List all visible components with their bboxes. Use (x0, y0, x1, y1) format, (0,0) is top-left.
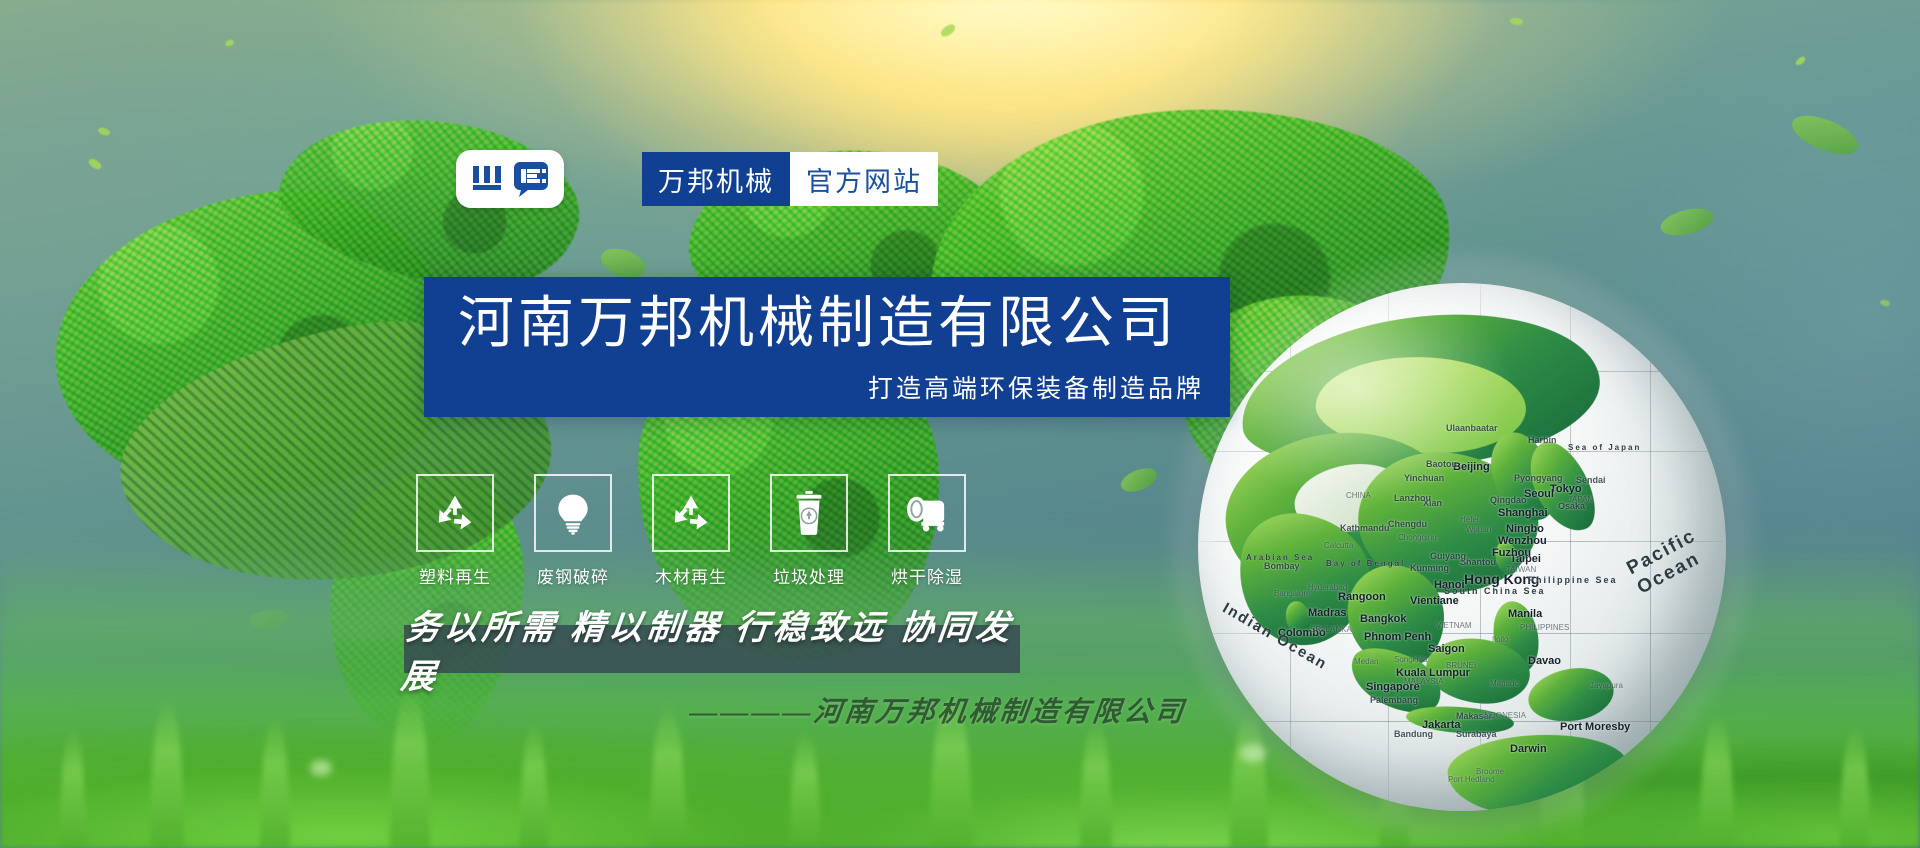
globe-city-label: TAIWAN (1506, 565, 1536, 574)
grass-blade (520, 722, 548, 848)
globe-city-label: Vientiane (1410, 595, 1459, 607)
globe-city-label: Rangoon (1338, 591, 1386, 603)
page-subtitle: 打造高端环保装备制造品牌 (868, 369, 1204, 405)
island-blob (1118, 464, 1161, 497)
globe-city-label: Bangkok (1360, 613, 1406, 625)
globe-city-label: Harbin (1528, 435, 1557, 445)
feature-item-drying-dehumidifying[interactable]: 烘干除湿 (890, 474, 964, 588)
page-title: 河南万邦机械制造有限公司 (458, 291, 1178, 355)
globe-ocean-label: Bay of Bengal (1326, 559, 1405, 568)
grass-blade (1840, 726, 1870, 848)
globe-city-label: Pyongyang (1514, 473, 1563, 483)
globe-city-label: Fuzhou (1492, 547, 1531, 559)
feature-icon-frame (416, 474, 494, 552)
globe-city-label: Beijing (1453, 461, 1490, 473)
grass-blade (790, 730, 820, 848)
feature-item-wood-recycling[interactable]: 木材再生 (654, 474, 728, 588)
globe-city-label: Iloilo (1492, 635, 1508, 644)
official-site-label: 官方网站 (790, 152, 938, 206)
globe-city-label: Kathmandu (1340, 523, 1390, 533)
globe-city-label: Saigon (1428, 643, 1465, 655)
globe-city-label: Palembang (1370, 695, 1418, 705)
globe-graphic: BeijingUlaanbaatarShanghaiHong KongTaipe… (1198, 283, 1726, 811)
feature-label: 废钢破碎 (537, 563, 609, 588)
feature-label: 木材再生 (655, 563, 727, 588)
globe-city-label: Chongqing (1398, 533, 1437, 542)
globe-city-label: Seoul (1524, 488, 1554, 500)
globe-ocean-label: South China Sea (1444, 586, 1546, 596)
globe-city-label: Darwin (1510, 743, 1547, 755)
feature-icon-frame (534, 474, 612, 552)
island-blob (1658, 204, 1716, 240)
globe-city-label: Port Hedland (1448, 775, 1495, 784)
feature-icon-frame (770, 474, 848, 552)
globe-ocean-label: Arabian Sea (1246, 553, 1314, 562)
hero-banner: BeijingUlaanbaatarShanghaiHong KongTaipe… (0, 0, 1920, 848)
grass-blade (150, 698, 184, 848)
feature-item-waste-treatment[interactable]: 垃圾处理 (772, 474, 846, 588)
globe-city-label: Lanzhou (1394, 493, 1431, 503)
globe-city-label: BRUNEI (1446, 661, 1476, 670)
bokeh-highlight (310, 760, 332, 776)
brand-title-group: 万邦机械 官方网站 (642, 152, 938, 206)
globe-ocean-label: Philippine Sea (1528, 575, 1618, 585)
globe-city-label: Port Moresby (1560, 721, 1630, 733)
land-new-guinea (1524, 662, 1618, 728)
slogan-text: 务以所需 精以制器 行稳致远 协同发展 (401, 622, 1023, 676)
globe-city-label: Yinchuan (1404, 473, 1444, 483)
globe-city-label: INDONESIA (1482, 711, 1526, 720)
globe-city-label: VIETNAM (1436, 621, 1472, 630)
feature-label: 烘干除湿 (891, 563, 963, 588)
site-header: 万邦机械 官方网站 (456, 150, 938, 208)
globe-city-label: Manila (1508, 608, 1542, 620)
globe-city-label: Songkhla (1394, 655, 1427, 664)
globe-city-label: PHILIPPINES (1520, 623, 1569, 632)
globe-city-label: Ningbo (1506, 523, 1544, 535)
globe-city-label: Qingdao (1490, 495, 1527, 505)
dryer-blower-icon (904, 493, 950, 533)
grass-blade (60, 728, 86, 848)
globe-city-label: Wenzhou (1498, 535, 1547, 547)
globe-city-label: Medan (1354, 657, 1378, 666)
globe-city-label: Hefei (1460, 515, 1479, 524)
recycle-icon (669, 491, 713, 535)
island-blob (1787, 108, 1863, 162)
feature-label: 垃圾处理 (773, 563, 845, 588)
globe-ocean-label: Pacific Ocean (1623, 515, 1726, 600)
globe-ocean-label: Sea of Japan (1568, 443, 1641, 452)
globe-city-label: Bandung (1394, 729, 1433, 739)
globe-sphere: BeijingUlaanbaatarShanghaiHong KongTaipe… (1198, 283, 1726, 811)
globe-city-label: SRI LANKA (1310, 625, 1352, 634)
globe-city-label: Phnom Penh (1364, 631, 1431, 643)
recycle-icon (433, 491, 477, 535)
grass-blade (650, 704, 686, 848)
globe-city-label: Sendai (1576, 475, 1606, 485)
globe-city-label: Madras (1308, 607, 1347, 619)
globe-city-label: MALAYSIA (1404, 677, 1443, 686)
globe-city-label: Jayapura (1590, 681, 1623, 690)
globe-city-label: Guiyang (1430, 551, 1466, 561)
slogan-attribution: ————河南万邦机械制造有限公司 (688, 690, 1189, 730)
lightbulb-icon (551, 491, 595, 535)
feature-icon-frame (652, 474, 730, 552)
globe-city-label: Bombay (1264, 561, 1300, 571)
trash-bin-icon (789, 490, 829, 536)
feature-item-plastic-recycling[interactable]: 塑料再生 (418, 474, 492, 588)
globe-city-label: Baotou (1426, 459, 1457, 469)
globe-city-label: JAPAN (1568, 495, 1593, 504)
globe-city-label: Shanghai (1498, 507, 1548, 519)
feature-icon-row: 塑料再生 废钢破碎 木材再生 (418, 474, 964, 588)
globe-city-label: Chengdu (1388, 519, 1427, 529)
feature-label: 塑料再生 (419, 563, 491, 588)
globe-city-label: Manado (1490, 679, 1519, 688)
grass-blade (1080, 720, 1112, 848)
grass-blade (260, 716, 290, 848)
globe-city-label: Ulaanbaatar (1446, 423, 1498, 433)
hero-title-panel: 河南万邦机械制造有限公司 打造高端环保装备制造品牌 (424, 277, 1230, 417)
globe-city-label: Wuhan (1466, 525, 1491, 534)
feature-icon-frame (888, 474, 966, 552)
globe-city-label: Kunming (1410, 563, 1449, 573)
globe-city-label: Bangalore (1274, 589, 1310, 598)
globe-city-label: CHINA (1346, 491, 1371, 500)
grass-blade (390, 686, 430, 848)
brand-name-label: 万邦机械 (642, 152, 790, 206)
globe-city-label: Surabaya (1456, 729, 1497, 739)
globe-city-label: Davao (1528, 655, 1561, 667)
globe-city-label: Calcutta (1324, 541, 1353, 550)
feature-item-scrap-steel-crushing[interactable]: 废钢破碎 (536, 474, 610, 588)
b-speech-bubble-icon (512, 160, 550, 198)
w-letter-icon (471, 164, 505, 194)
company-logo[interactable] (456, 150, 564, 208)
